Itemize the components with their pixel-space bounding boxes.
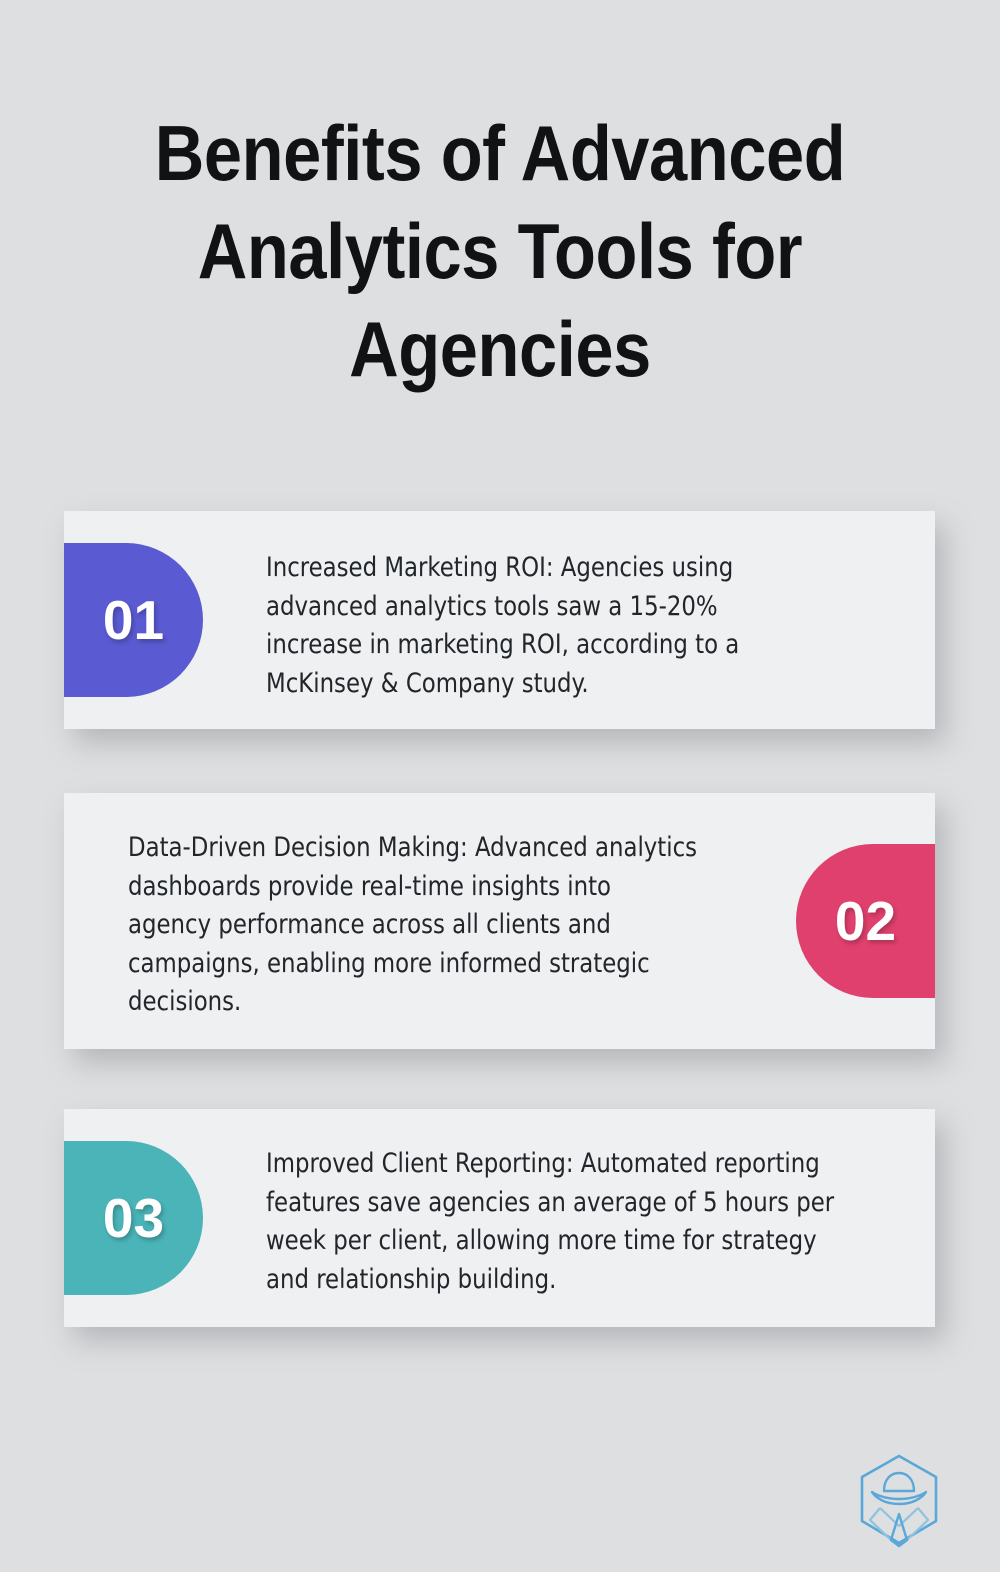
benefit-text-1: Increased Marketing ROI: Agencies using … xyxy=(266,549,814,703)
benefit-card-1: 01 Increased Marketing ROI: Agencies usi… xyxy=(64,511,935,729)
badge-number-label: 01 xyxy=(103,588,164,652)
benefit-card-2: Data-Driven Decision Making: Advanced an… xyxy=(64,793,935,1049)
page-title: Benefits of Advanced Analytics Tools for… xyxy=(130,104,869,398)
detective-hexagon-icon xyxy=(853,1452,945,1550)
badge-number-01: 01 xyxy=(64,543,203,697)
page-title-container: Benefits of Advanced Analytics Tools for… xyxy=(80,104,920,398)
benefit-text-3: Improved Client Reporting: Automated rep… xyxy=(266,1145,850,1299)
badge-number-label: 02 xyxy=(835,889,896,953)
benefit-text-2: Data-Driven Decision Making: Advanced an… xyxy=(128,829,699,1022)
benefit-card-3: 03 Improved Client Reporting: Automated … xyxy=(64,1109,935,1327)
badge-number-02: 02 xyxy=(796,844,935,998)
badge-number-03: 03 xyxy=(64,1141,203,1295)
badge-number-label: 03 xyxy=(103,1186,164,1250)
brand-logo xyxy=(853,1452,945,1550)
